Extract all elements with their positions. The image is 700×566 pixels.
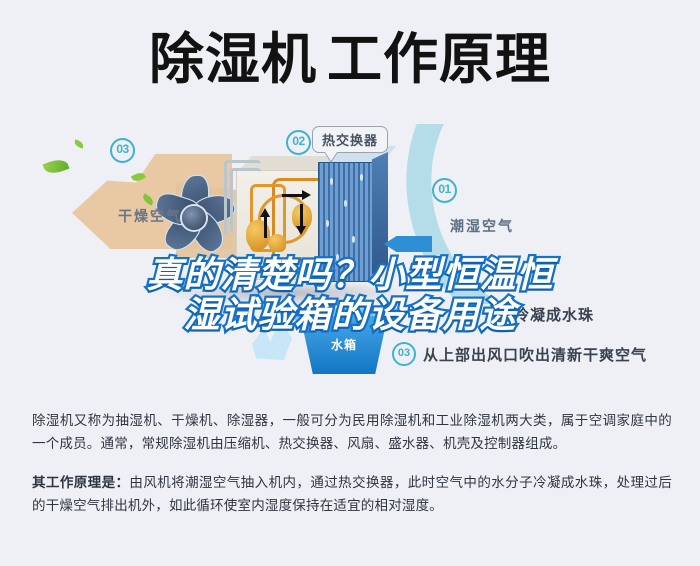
body-paragraph-1: 除湿机又称为抽湿机、干燥机、除湿器，一般可分为民用除湿机和工业除湿机两大类，属于… — [32, 410, 672, 456]
title-text: 除湿机工作原理 — [149, 32, 551, 87]
flow-arrow-stem — [282, 194, 302, 197]
page-title: 除湿机工作原理 — [0, 18, 700, 100]
article-body: 除湿机又称为抽湿机、干燥机、除湿器，一般可分为民用除湿机和工业除湿机两大类，属于… — [32, 410, 672, 534]
title-part-2: 工作原理 — [327, 27, 551, 91]
step-note-03-badge: 03 — [392, 342, 416, 366]
flow-arrow-stem — [264, 216, 267, 238]
water-droplet-icon — [326, 220, 329, 227]
heat-exchanger-side — [372, 152, 388, 274]
step-note-02-text: 器冷凝成水珠 — [498, 304, 594, 325]
humid-air-inlet-arrow — [384, 236, 432, 252]
flow-arrow-right-icon — [302, 190, 311, 200]
step-badge-02: 02 — [286, 130, 311, 155]
flow-arrow-stem — [300, 204, 303, 226]
water-tank-label: 水箱 — [292, 336, 396, 353]
step-badge-01: 01 — [432, 178, 457, 203]
flow-arrow-up-icon — [260, 208, 270, 217]
step-note-03-text: 从上部出风口吹出清新干爽空气 — [423, 344, 647, 365]
water-droplet-icon — [336, 254, 339, 261]
water-splash — [252, 320, 292, 360]
leaf-icon — [43, 156, 70, 176]
leaf-icon — [73, 139, 85, 149]
base-shadow — [160, 280, 410, 306]
title-part-1: 除湿机 — [149, 27, 317, 91]
water-droplet-icon — [330, 178, 333, 185]
dry-air-label: 干燥空气 — [118, 206, 182, 226]
infographic-page: 除湿机工作原理 — [0, 0, 700, 566]
air-flow-swoosh — [396, 124, 581, 304]
heat-exchanger-callout: 热交换器 — [312, 126, 388, 153]
compressor-body — [268, 234, 286, 252]
step-badge-03: 03 — [110, 138, 135, 163]
diagram-stage: 水箱 03 02 01 干燥空气 潮湿空气 热交换器 器冷凝成水珠 03 从上部… — [0, 108, 700, 398]
step-note-03: 03 从上部出风口吹出清新干爽空气 — [392, 342, 647, 366]
humid-air-label: 潮湿空气 — [450, 216, 514, 236]
body-paragraph-2-lead: 其工作原理是： — [32, 475, 129, 491]
water-droplet-icon — [352, 236, 355, 243]
water-droplet-icon — [360, 174, 363, 181]
step-note-02: 器冷凝成水珠 — [498, 304, 594, 325]
water-droplet-icon — [344, 200, 347, 207]
fan-hub — [182, 206, 206, 230]
body-paragraph-2: 其工作原理是：由风机将潮湿空气抽入机内，通过热交换器，此时空气中的水分子冷凝成水… — [32, 472, 672, 518]
flow-arrow-down-icon — [296, 226, 306, 235]
